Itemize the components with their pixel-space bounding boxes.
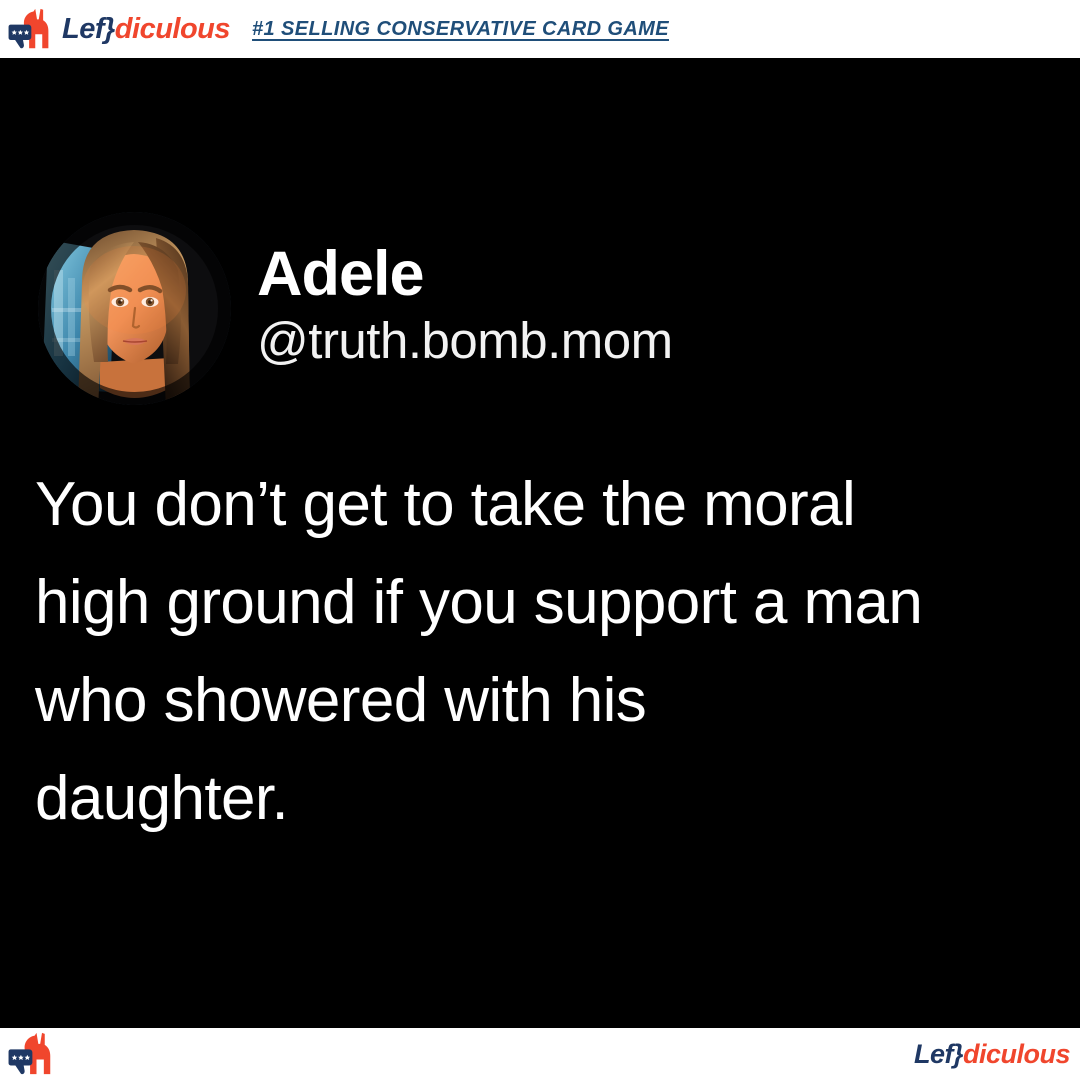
donkey-thumbs-down-icon: [8, 8, 52, 50]
post-body-line: high ground if you support a man: [35, 554, 1050, 652]
post-body-text: You don’t get to take the moral high gro…: [35, 456, 1050, 848]
post-body-line: who showered with his: [35, 652, 1050, 750]
post-body-line: daughter.: [35, 750, 1050, 848]
wordmark-left: Lef: [62, 13, 104, 45]
post-canvas: Adele @truth.bomb.mom You don’t get to t…: [0, 58, 1080, 1028]
brand-logo[interactable]: Lef}diculous: [8, 8, 230, 50]
social-post-graphic: Lef}diculous #1 SELLING CONSERVATIVE CAR…: [0, 0, 1080, 1080]
wordmark-brace: }: [104, 13, 115, 45]
avatar-photo-icon: [38, 212, 231, 405]
footer-wordmark-right: diculous: [963, 1039, 1070, 1069]
footer-wordmark-left: Lef: [914, 1039, 953, 1069]
display-name: Adele: [257, 242, 673, 308]
avatar[interactable]: [38, 212, 231, 405]
handle: @truth.bomb.mom: [257, 312, 673, 369]
donkey-thumbs-down-icon[interactable]: [8, 1032, 54, 1076]
tagline-link[interactable]: #1 SELLING CONSERVATIVE CARD GAME: [252, 18, 669, 41]
footer-brand-wordmark[interactable]: Lef}diculous: [914, 1041, 1070, 1068]
footer-wordmark-brace: }: [953, 1039, 963, 1069]
post-body-line: You don’t get to take the moral: [35, 456, 1050, 554]
header-bar: Lef}diculous #1 SELLING CONSERVATIVE CAR…: [0, 0, 1080, 58]
wordmark-right: diculous: [115, 13, 230, 45]
brand-wordmark: Lef}diculous: [62, 15, 230, 44]
identity-block: Adele @truth.bomb.mom: [257, 242, 673, 375]
footer-bar: Lef}diculous: [0, 1028, 1080, 1080]
profile-row: Adele @truth.bomb.mom: [38, 212, 673, 405]
